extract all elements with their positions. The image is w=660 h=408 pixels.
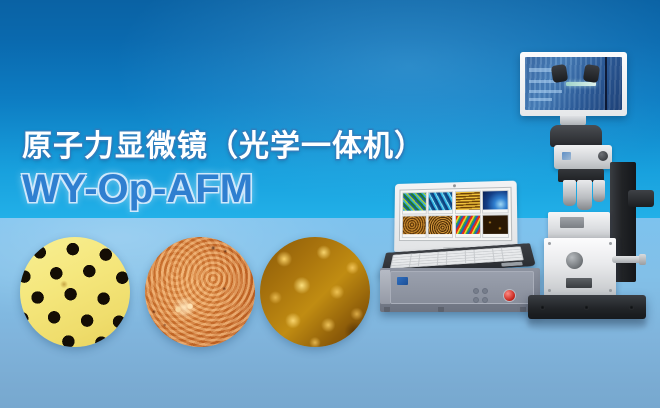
afm-sample-image-1: [20, 237, 130, 347]
brand-logo-icon: [562, 152, 571, 160]
mounting-hole-icon: [584, 305, 589, 310]
camera-port: [628, 190, 654, 207]
scan-thumbnail[interactable]: [455, 191, 481, 214]
display-artifact: [529, 80, 556, 83]
scan-thumbnail-caption: [429, 210, 452, 213]
afm-sample-image-3: [260, 237, 370, 347]
scan-thumbnail-caption: [403, 210, 426, 213]
product-banner: 原子力显微镜（光学一体机） WY-Op-AFM: [0, 0, 660, 408]
scan-thumbnail-caption: [456, 234, 480, 237]
scan-thumbnail[interactable]: [428, 191, 453, 214]
controller-foot: [384, 307, 390, 312]
afm-sample-image-2: [145, 237, 255, 347]
mounting-hole-icon: [540, 305, 545, 310]
display-artifact: [529, 90, 562, 93]
eyepiece-left: [551, 64, 568, 83]
scan-thumbnail-caption: [403, 234, 426, 237]
objective-lens: [577, 180, 592, 210]
connector-port-icon[interactable]: [473, 288, 479, 294]
controller-port-group: [473, 288, 488, 303]
microscope-upper-body: [554, 145, 612, 169]
scan-thumbnail-caption: [456, 209, 480, 212]
scan-thumbnail[interactable]: [402, 216, 427, 238]
page-title: 原子力显微镜（光学一体机）: [22, 121, 425, 165]
connector-port-icon[interactable]: [482, 288, 488, 294]
monitor-mount: [560, 116, 586, 125]
scanner-nameplate: [566, 278, 592, 288]
screw-icon: [609, 289, 612, 292]
scan-thumbnail-caption: [429, 234, 452, 237]
controller-side-panel: [380, 270, 390, 304]
adjustment-knob[interactable]: [566, 252, 583, 269]
connector-port-icon[interactable]: [482, 297, 488, 303]
scan-thumbnail[interactable]: [428, 215, 453, 238]
screw-icon: [548, 289, 551, 292]
microscope-monitor: [520, 52, 627, 116]
micrometer-knob[interactable]: [639, 254, 646, 265]
eyepiece-right: [583, 64, 600, 83]
afm-cantilever-probe-icon: [566, 82, 596, 86]
optical-afm-microscope: [498, 52, 660, 342]
brand-logo-icon: [397, 277, 408, 285]
scan-thumbnail[interactable]: [455, 215, 481, 238]
objective-lens: [563, 180, 576, 206]
microscope-base: [528, 295, 646, 319]
laptop-screen: [399, 187, 512, 241]
objective-lens: [593, 180, 605, 202]
micrometer-adjuster[interactable]: [612, 256, 646, 263]
screw-icon: [548, 242, 551, 245]
sample-holder-slot: [560, 217, 584, 228]
focus-knob[interactable]: [598, 151, 608, 161]
controller-foot: [438, 307, 444, 312]
scan-thumbnail[interactable]: [402, 192, 427, 215]
product-model-name: WY-Op-AFM: [22, 167, 253, 212]
afm-scanner-head: [544, 238, 616, 296]
connector-port-icon[interactable]: [473, 297, 479, 303]
monitor-display: [525, 57, 622, 110]
screw-icon: [609, 242, 612, 245]
display-artifact: [529, 98, 552, 101]
sample-stage: [548, 212, 610, 240]
mounting-hole-icon: [629, 305, 634, 310]
binocular-head: [550, 125, 602, 147]
webcam-icon: [453, 184, 456, 187]
base-shadow: [528, 318, 646, 332]
